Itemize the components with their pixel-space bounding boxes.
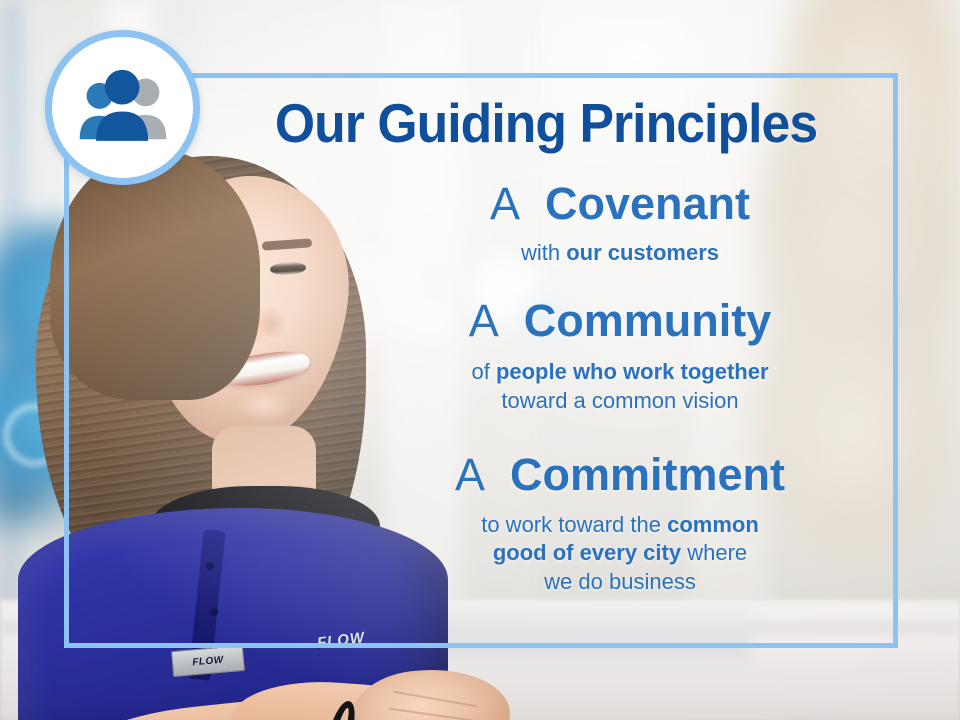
plain-text: toward a common vision (501, 388, 738, 413)
plain-text: of (471, 359, 495, 384)
principles-list: A Covenant with our customers A Communit… (330, 180, 910, 603)
emphasis-text: good of every city (493, 540, 681, 565)
plain-text: with (521, 240, 566, 265)
principle-item: A Commitment to work toward the common g… (330, 451, 910, 596)
principle-title: A Covenant (330, 180, 910, 228)
description-line: to work toward the common (330, 511, 910, 540)
principle-title: A Community (330, 297, 910, 345)
description-line: we do business (330, 568, 910, 597)
principle-keyword: Community (524, 295, 772, 346)
principle-description: with our customers (330, 239, 910, 268)
principle-description: of people who work together toward a com… (330, 358, 910, 415)
description-line: good of every city where (330, 539, 910, 568)
principle-lead: A (490, 178, 533, 229)
description-line: with our customers (330, 239, 910, 268)
name-badge-text: FLOW (192, 654, 224, 668)
principle-lead: A (469, 295, 512, 346)
poster-canvas: FLOW FLOW Our Guiding Princi (0, 0, 960, 720)
page-title: Our Guiding Principles (236, 96, 856, 151)
people-group-icon (71, 56, 175, 160)
plain-text: we do business (544, 569, 696, 594)
description-line: of people who work together (330, 358, 910, 387)
principle-keyword: Commitment (510, 449, 785, 500)
principle-keyword: Covenant (545, 178, 750, 229)
principle-lead: A (455, 449, 498, 500)
plain-text: where (681, 540, 747, 565)
blurred-laptop (430, 604, 750, 658)
principle-item: A Covenant with our customers (330, 180, 910, 267)
emphasis-text: our customers (566, 240, 719, 265)
description-line: toward a common vision (330, 387, 910, 416)
emphasis-text: common (667, 512, 759, 537)
principle-description: to work toward the common good of every … (330, 511, 910, 597)
plain-text: to work toward the (481, 512, 667, 537)
nose (258, 292, 292, 338)
principle-item: A Community of people who work together … (330, 297, 910, 415)
shirt-button (206, 562, 214, 570)
shirt-button (210, 608, 218, 616)
people-group-badge (45, 30, 200, 185)
emphasis-text: people who work together (496, 359, 769, 384)
hair-front (50, 150, 260, 400)
principle-title: A Commitment (330, 451, 910, 499)
